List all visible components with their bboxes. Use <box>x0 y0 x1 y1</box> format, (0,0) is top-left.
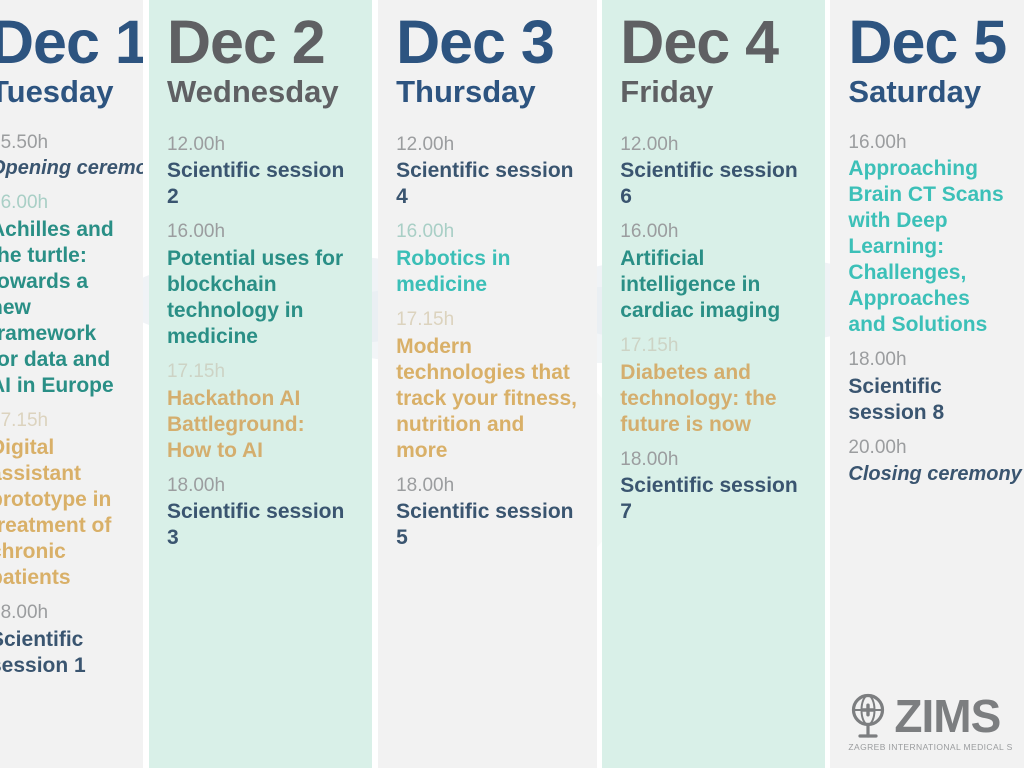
entry-time: 17.15h <box>620 333 807 359</box>
zims-logo[interactable]: ZIMS ZAGREB INTERNATIONAL MEDICAL S <box>848 693 1012 752</box>
day-column-dec-2[interactable]: Dec 2 Wednesday 12.00h Scientific sessio… <box>149 0 372 768</box>
entry-title: Closing ceremony <box>848 462 1006 487</box>
entry-time: 12.00h <box>396 132 579 158</box>
schedule-entry[interactable]: 16.00h Approaching Brain CT Scans with D… <box>848 130 1006 339</box>
entry-time: 18.00h <box>167 473 354 499</box>
entry-time: 18.00h <box>396 473 579 499</box>
entry-title: Achilles and the turtle: towards a new f… <box>0 217 125 399</box>
entry-title: Digital assistant prototype in treatment… <box>0 435 125 591</box>
globe-medical-cross-icon <box>848 693 892 739</box>
entry-title: Scientific session 5 <box>396 499 579 551</box>
day-column-dec-1[interactable]: Dec 1 Tuesday 15.50h Opening ceremony 16… <box>0 0 143 768</box>
schedule-entry[interactable]: 17.15h Modern technologies that track yo… <box>396 307 579 464</box>
schedule-entry[interactable]: 18.00h Scientific session 1 <box>0 600 125 679</box>
entry-title: Scientific session 7 <box>620 473 807 525</box>
schedule-entry[interactable]: 18.00h Scientific session 5 <box>396 473 579 552</box>
entry-time: 12.00h <box>620 132 807 158</box>
schedule-columns: Dec 1 Tuesday 15.50h Opening ceremony 16… <box>0 0 1024 768</box>
entry-title: Robotics in medicine <box>396 246 579 298</box>
day-column-dec-3[interactable]: Dec 3 Thursday 12.00h Scientific session… <box>378 0 597 768</box>
day-header-dec-5: Dec 5 Saturday <box>848 14 1006 110</box>
day-weekday: Tuesday <box>0 74 125 110</box>
day-date: Dec 1 <box>0 14 125 72</box>
entry-time: 18.00h <box>0 600 125 626</box>
logo-wordmark: ZIMS <box>894 693 1000 739</box>
schedule-entry[interactable]: 16.00h Robotics in medicine <box>396 219 579 298</box>
day-column-dec-4[interactable]: Dec 4 Friday 12.00h Scientific session 6… <box>602 0 825 768</box>
day-weekday: Friday <box>620 74 807 110</box>
entry-title: Scientific session 3 <box>167 499 354 551</box>
schedule-entry[interactable]: 18.00h Scientific session 3 <box>167 473 354 552</box>
entry-title: Scientific session 8 <box>848 374 1006 426</box>
day-header-dec-4: Dec 4 Friday <box>620 14 807 110</box>
logo-row: ZIMS <box>848 693 1000 739</box>
entry-time: 17.15h <box>167 359 354 385</box>
entry-time: 20.00h <box>848 435 1006 461</box>
day-header-dec-2: Dec 2 Wednesday <box>167 14 354 110</box>
day-weekday: Thursday <box>396 74 579 110</box>
schedule-entry[interactable]: 16.00h Achilles and the turtle: towards … <box>0 190 125 399</box>
entry-time: 18.00h <box>620 447 807 473</box>
entry-title: Hackathon AI Battleground: How to AI <box>167 386 354 464</box>
day-header-dec-3: Dec 3 Thursday <box>396 14 579 110</box>
entry-title: Diabetes and technology: the future is n… <box>620 360 807 438</box>
entry-time: 12.00h <box>167 132 354 158</box>
day-weekday: Saturday <box>848 74 1006 110</box>
day-weekday: Wednesday <box>167 74 354 110</box>
schedule-entry[interactable]: 16.00h Potential uses for blockchain tec… <box>167 219 354 350</box>
entry-title: Artificial intelligence in cardiac imagi… <box>620 246 807 324</box>
entry-time: 16.00h <box>848 130 1006 156</box>
schedule-entry[interactable]: 16.00h Artificial intelligence in cardia… <box>620 219 807 324</box>
day-date: Dec 5 <box>848 14 1006 72</box>
entry-time: 17.15h <box>0 408 125 434</box>
schedule-entry[interactable]: 17.15h Digital assistant prototype in tr… <box>0 408 125 591</box>
entry-title: Scientific session 4 <box>396 158 579 210</box>
entry-title: Modern technologies that track your fitn… <box>396 334 579 464</box>
schedule-entry[interactable]: 15.50h Opening ceremony <box>0 130 125 182</box>
day-header-dec-1: Dec 1 Tuesday <box>0 14 125 110</box>
entry-title: Potential uses for blockchain technology… <box>167 246 354 350</box>
day-date: Dec 4 <box>620 14 807 72</box>
schedule-entry[interactable]: 17.15h Hackathon AI Battleground: How to… <box>167 359 354 464</box>
schedule-entry[interactable]: 12.00h Scientific session 6 <box>620 132 807 211</box>
entry-title: Opening ceremony <box>0 156 125 181</box>
entry-time: 16.00h <box>620 219 807 245</box>
logo-tagline: ZAGREB INTERNATIONAL MEDICAL S <box>848 742 1012 752</box>
schedule-entry[interactable]: 18.00h Scientific session 7 <box>620 447 807 526</box>
day-date: Dec 3 <box>396 14 579 72</box>
schedule-entry[interactable]: 12.00h Scientific session 4 <box>396 132 579 211</box>
entry-title: Scientific session 2 <box>167 158 354 210</box>
conference-schedule-poster: Dec 1 Tuesday 15.50h Opening ceremony 16… <box>0 0 1024 768</box>
entry-title: Scientific session 1 <box>0 627 125 679</box>
entry-time: 16.00h <box>396 219 579 245</box>
entry-time: 16.00h <box>0 190 125 216</box>
schedule-entry[interactable]: 20.00h Closing ceremony <box>848 435 1006 487</box>
schedule-entry[interactable]: 12.00h Scientific session 2 <box>167 132 354 211</box>
entry-time: 17.15h <box>396 307 579 333</box>
entry-title: Approaching Brain CT Scans with Deep Lea… <box>848 156 1006 338</box>
entry-time: 16.00h <box>167 219 354 245</box>
entry-time: 15.50h <box>0 130 125 156</box>
day-date: Dec 2 <box>167 14 354 72</box>
entry-title: Scientific session 6 <box>620 158 807 210</box>
schedule-entry[interactable]: 17.15h Diabetes and technology: the futu… <box>620 333 807 438</box>
schedule-entry[interactable]: 18.00h Scientific session 8 <box>848 347 1006 426</box>
day-column-dec-5[interactable]: Dec 5 Saturday 16.00h Approaching Brain … <box>830 0 1024 768</box>
entry-time: 18.00h <box>848 347 1006 373</box>
